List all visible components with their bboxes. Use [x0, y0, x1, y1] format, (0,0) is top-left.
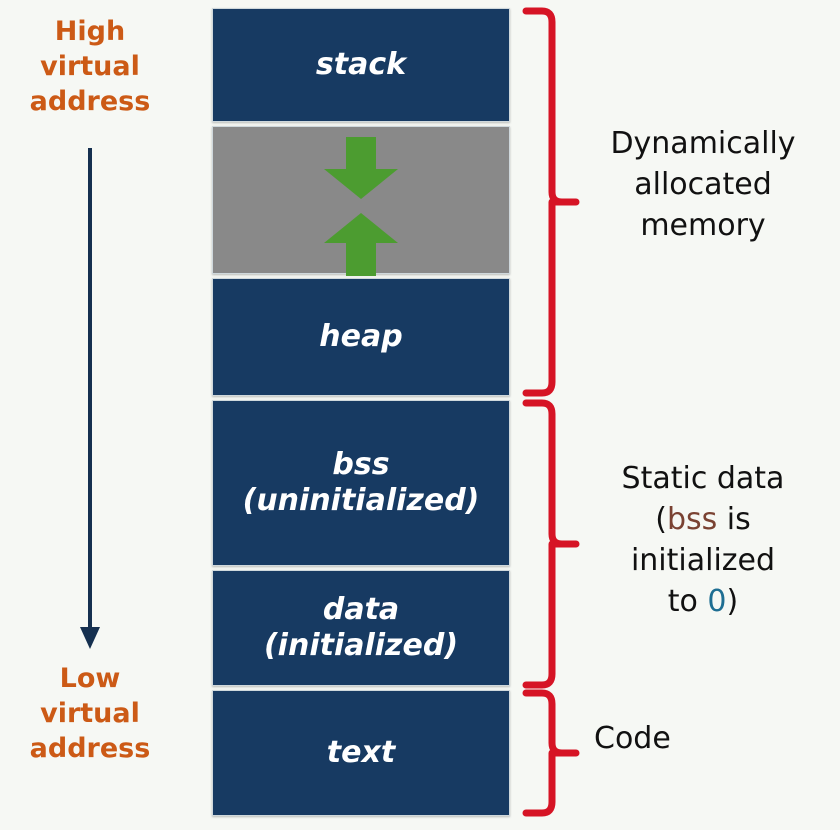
caption-code: Code	[594, 718, 774, 759]
memory-segment-heap: heap	[212, 278, 510, 396]
down-arrow-icon	[324, 137, 398, 199]
memory-segment-stack: stack	[212, 8, 510, 122]
low-virtual-address-label: Low virtual address	[5, 661, 175, 766]
memory-column: stack heap bss (uninitialized) data	[212, 8, 510, 816]
high-address-line-1: High	[5, 14, 175, 49]
caption-dyn-line-1: Dynamically	[572, 123, 834, 164]
caption-dyn-line-3: memory	[572, 205, 834, 246]
segment-label-heap: heap	[319, 319, 402, 355]
address-axis-arrow-head-icon	[80, 627, 100, 649]
memory-segment-gap	[212, 126, 510, 274]
low-address-line-3: address	[5, 731, 175, 766]
segment-label-text: text	[327, 735, 395, 771]
caption-static-line-1: Static data	[572, 458, 834, 499]
caption-static-line4-pre: to	[668, 584, 708, 619]
brace-dynamically-allocated-memory	[520, 6, 580, 398]
caption-static-bss-token: bss	[667, 502, 717, 537]
segment-label-stack: stack	[316, 47, 406, 83]
high-virtual-address-label: High virtual address	[5, 14, 175, 119]
high-address-line-2: virtual	[5, 49, 175, 84]
up-arrow-shaft	[346, 242, 376, 276]
memory-segment-bss: bss (uninitialized)	[212, 400, 510, 566]
caption-dynamically-allocated-memory: Dynamically allocated memory	[572, 123, 834, 246]
caption-dyn-line-2: allocated	[572, 164, 834, 205]
caption-static-data: Static data (bss is initialized to 0)	[572, 458, 834, 622]
caption-static-line-3: initialized	[572, 540, 834, 581]
memory-segment-data: data (initialized)	[212, 570, 510, 686]
address-axis-arrow-shaft	[88, 148, 92, 640]
up-arrow-icon	[324, 213, 398, 275]
down-arrow-head	[324, 169, 398, 199]
caption-static-line2-rest: is	[717, 502, 751, 537]
caption-static-line-4: to 0)	[572, 581, 834, 622]
caption-static-zero-token: 0	[707, 584, 726, 619]
segment-sublabel-data: (initialized)	[264, 628, 458, 664]
brace-static-data	[520, 398, 580, 690]
low-address-line-1: Low	[5, 661, 175, 696]
memory-layout-diagram: High virtual address Low virtual address…	[0, 0, 840, 830]
memory-segment-text: text	[212, 690, 510, 816]
caption-code-line-1: Code	[594, 718, 774, 759]
brace-code	[520, 688, 580, 818]
up-arrow-head	[324, 213, 398, 243]
segment-label-bss: bss	[243, 447, 480, 483]
down-arrow-shaft	[346, 137, 376, 171]
caption-static-paren-close: )	[727, 584, 739, 619]
caption-static-paren-open: (	[655, 502, 667, 537]
segment-label-data: data	[264, 592, 458, 628]
low-address-line-2: virtual	[5, 696, 175, 731]
caption-static-line-2: (bss is	[572, 499, 834, 540]
segment-sublabel-bss: (uninitialized)	[243, 483, 480, 519]
high-address-line-3: address	[5, 84, 175, 119]
